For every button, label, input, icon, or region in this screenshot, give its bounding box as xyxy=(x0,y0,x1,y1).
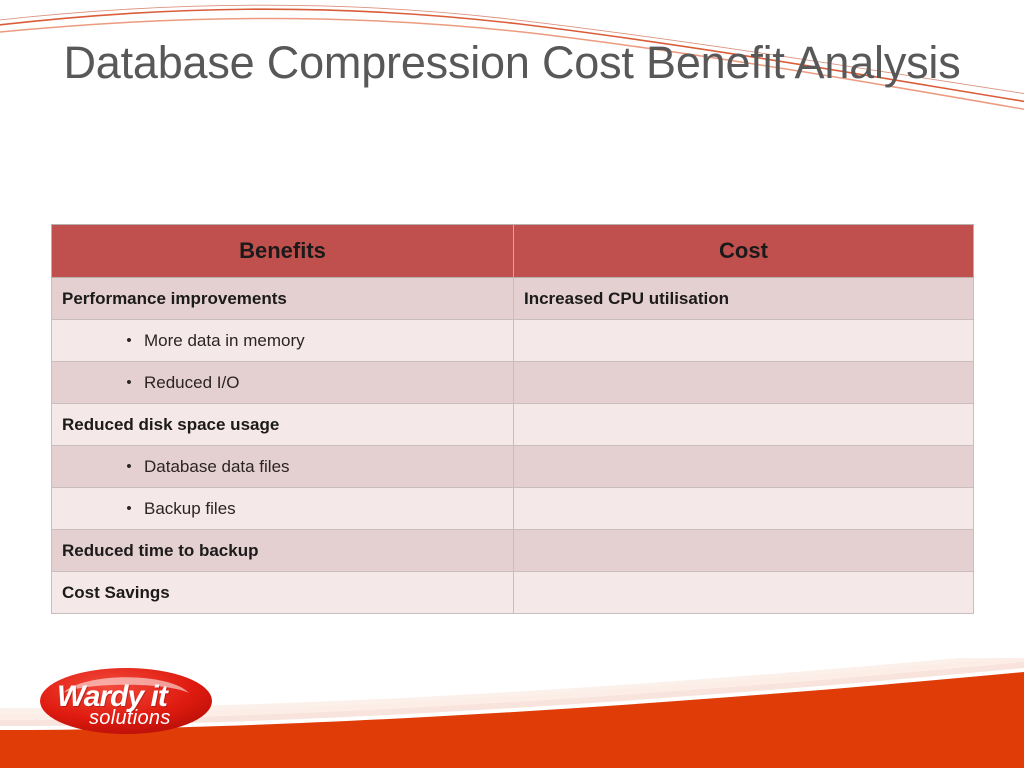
cost-cell xyxy=(514,446,974,488)
table-body: Performance improvementsIncreased CPU ut… xyxy=(52,278,974,614)
table-row: •Backup files xyxy=(52,488,974,530)
column-header-benefits: Benefits xyxy=(52,225,514,278)
cost-cell: Increased CPU utilisation xyxy=(514,278,974,320)
benefit-cell-bullet: •Database data files xyxy=(52,446,514,488)
benefit-cell: Reduced time to backup xyxy=(52,530,514,572)
logo-secondary-text: solutions xyxy=(89,707,171,730)
table-row: Reduced disk space usage xyxy=(52,404,974,446)
benefit-cell-bullet: •Backup files xyxy=(52,488,514,530)
bullet-wrapper: •Database data files xyxy=(62,457,513,477)
table-row: •More data in memory xyxy=(52,320,974,362)
cost-cell xyxy=(514,572,974,614)
benefit-cell-bullet: •Reduced I/O xyxy=(52,362,514,404)
bullet-dot-icon: • xyxy=(114,375,144,390)
slide-title: Database Compression Cost Benefit Analys… xyxy=(60,33,964,93)
table-row: Cost Savings xyxy=(52,572,974,614)
bullet-dot-icon: • xyxy=(114,501,144,516)
table-row: •Database data files xyxy=(52,446,974,488)
cost-cell xyxy=(514,320,974,362)
cost-cell xyxy=(514,488,974,530)
table-row: Reduced time to backup xyxy=(52,530,974,572)
bullet-label: Database data files xyxy=(144,457,290,477)
bullet-label: More data in memory xyxy=(144,331,305,351)
bullet-wrapper: •Reduced I/O xyxy=(62,373,513,393)
cost-cell xyxy=(514,530,974,572)
table-header-row: Benefits Cost xyxy=(52,225,974,278)
bullet-wrapper: •More data in memory xyxy=(62,331,513,351)
benefit-cell: Cost Savings xyxy=(52,572,514,614)
table-row: Performance improvementsIncreased CPU ut… xyxy=(52,278,974,320)
cost-cell xyxy=(514,404,974,446)
benefit-cost-table: Benefits Cost Performance improvementsIn… xyxy=(51,224,974,614)
bullet-dot-icon: • xyxy=(114,459,144,474)
table-row: •Reduced I/O xyxy=(52,362,974,404)
bullet-wrapper: •Backup files xyxy=(62,499,513,519)
cost-cell xyxy=(514,362,974,404)
column-header-cost: Cost xyxy=(514,225,974,278)
benefit-cell: Performance improvements xyxy=(52,278,514,320)
slide-canvas: Database Compression Cost Benefit Analys… xyxy=(0,0,1024,768)
benefit-cell-bullet: •More data in memory xyxy=(52,320,514,362)
bullet-label: Backup files xyxy=(144,499,236,519)
bullet-label: Reduced I/O xyxy=(144,373,239,393)
wardy-it-solutions-logo: Wardy it solutions xyxy=(39,663,214,739)
benefit-cell: Reduced disk space usage xyxy=(52,404,514,446)
bullet-dot-icon: • xyxy=(114,333,144,348)
